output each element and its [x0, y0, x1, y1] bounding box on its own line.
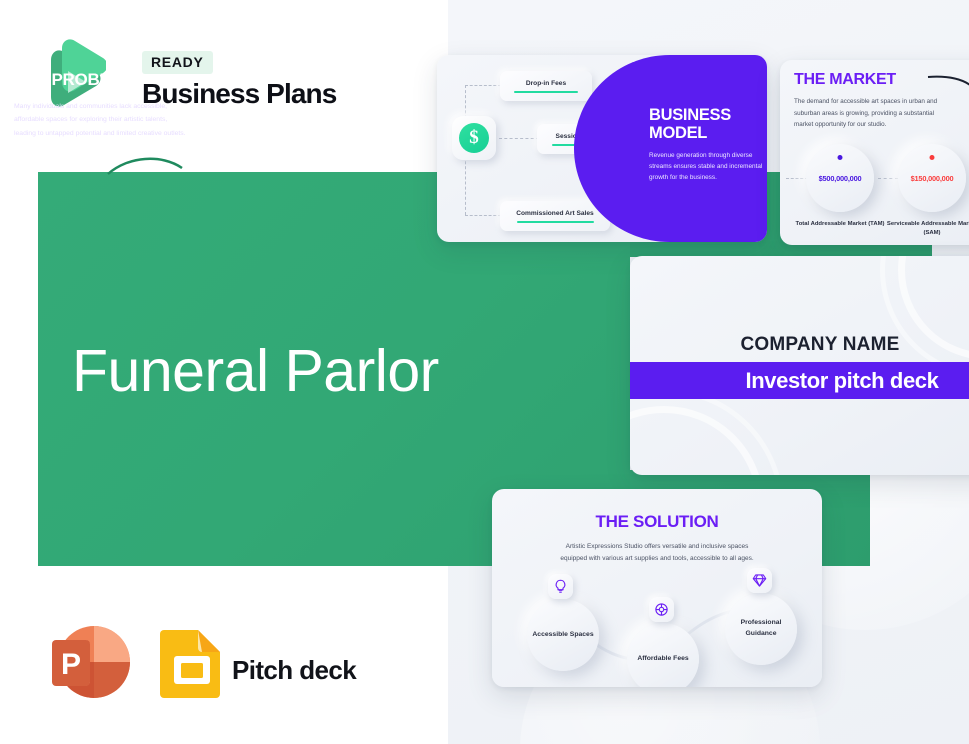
- metric-dot-sam: [930, 155, 935, 160]
- dollar-symbol: $: [459, 123, 489, 153]
- lightbulb-icon: [548, 574, 573, 599]
- metric-value-sam: $150,000,000: [911, 174, 954, 183]
- slide-company-name[interactable]: COMPANY NAME Investor pitch deck: [630, 256, 969, 475]
- decor-arc-bottom-left-2: [630, 388, 784, 475]
- chip-label: Drop-in Fees: [526, 80, 566, 87]
- business-model-title: BUSINESS MODEL: [649, 106, 767, 142]
- ready-badge: READY: [142, 51, 213, 74]
- slide-business-model[interactable]: $ Drop-in Fees Session Workshops Commiss…: [437, 55, 767, 242]
- solution-node-affordable-fees[interactable]: Affordable Fees: [627, 623, 699, 687]
- solution-node-professional-guidance[interactable]: Professional Guidance: [725, 593, 797, 665]
- screenshot-stage: Funeral Parlor READY Business Plans $ Dr…: [0, 0, 969, 744]
- connector-top: [465, 85, 501, 86]
- solution-title: THE SOLUTION: [492, 512, 822, 532]
- svg-text:P: P: [61, 648, 81, 681]
- slide-the-market[interactable]: THE MARKET The demand for accessible art…: [780, 60, 969, 245]
- company-name-title: COMPANY NAME: [630, 334, 969, 356]
- market-title: THE MARKET: [794, 71, 896, 89]
- powerpoint-file-icon: P: [40, 622, 132, 702]
- market-dash-middle: [878, 178, 898, 179]
- connector-bottom: [465, 215, 501, 216]
- chip-underline: [514, 91, 578, 93]
- business-model-purple-panel: [574, 55, 767, 242]
- problem-body: Many individuals and communities lack ac…: [14, 100, 186, 140]
- metric-caption-tam: Total Addressable Market (TAM): [793, 220, 887, 229]
- solution-node-accessible-spaces[interactable]: Accessible Spaces: [527, 599, 599, 671]
- metric-circle-sam[interactable]: $150,000,000: [898, 144, 966, 212]
- metric-value-tam: $500,000,000: [819, 174, 862, 183]
- solution-node-label: Affordable Fees: [637, 654, 688, 665]
- metric-circle-tam[interactable]: $500,000,000: [806, 144, 874, 212]
- decor-arc-top-right-2: [880, 256, 969, 378]
- google-slides-file-icon: [158, 626, 228, 698]
- page-title: Funeral Parlor: [72, 340, 612, 404]
- diamond-icon: [747, 568, 772, 593]
- chip-underline: [517, 221, 594, 223]
- solution-node-label: Professional Guidance: [725, 618, 797, 639]
- company-subtitle-band: Investor pitch deck: [630, 362, 969, 399]
- solution-node-label: Accessible Spaces: [532, 630, 593, 641]
- slide-the-solution[interactable]: THE SOLUTION Artistic Expressions Studio…: [492, 489, 822, 687]
- format-label: Pitch deck: [232, 655, 356, 686]
- connector-middle: [499, 138, 539, 139]
- target-icon: [649, 597, 674, 622]
- solution-body: Artistic Expressions Studio offers versa…: [554, 541, 760, 566]
- chip-label: Commissioned Art Sales: [516, 210, 593, 217]
- metric-caption-sam: Serviceable Addressable Market (SAM): [885, 220, 969, 238]
- revenue-chip-drop-in-fees[interactable]: Drop-in Fees: [500, 71, 592, 101]
- problem-title: THE PROBLEM: [14, 70, 134, 90]
- company-subtitle: Investor pitch deck: [706, 368, 939, 394]
- market-dash-left: [786, 178, 808, 179]
- dollar-coin-icon: $: [452, 116, 496, 160]
- metric-dot-tam: [838, 155, 843, 160]
- problem-swoosh-decor: [106, 152, 186, 182]
- curved-arrow-icon: [926, 72, 969, 120]
- business-model-body: Revenue generation through diverse strea…: [649, 150, 767, 184]
